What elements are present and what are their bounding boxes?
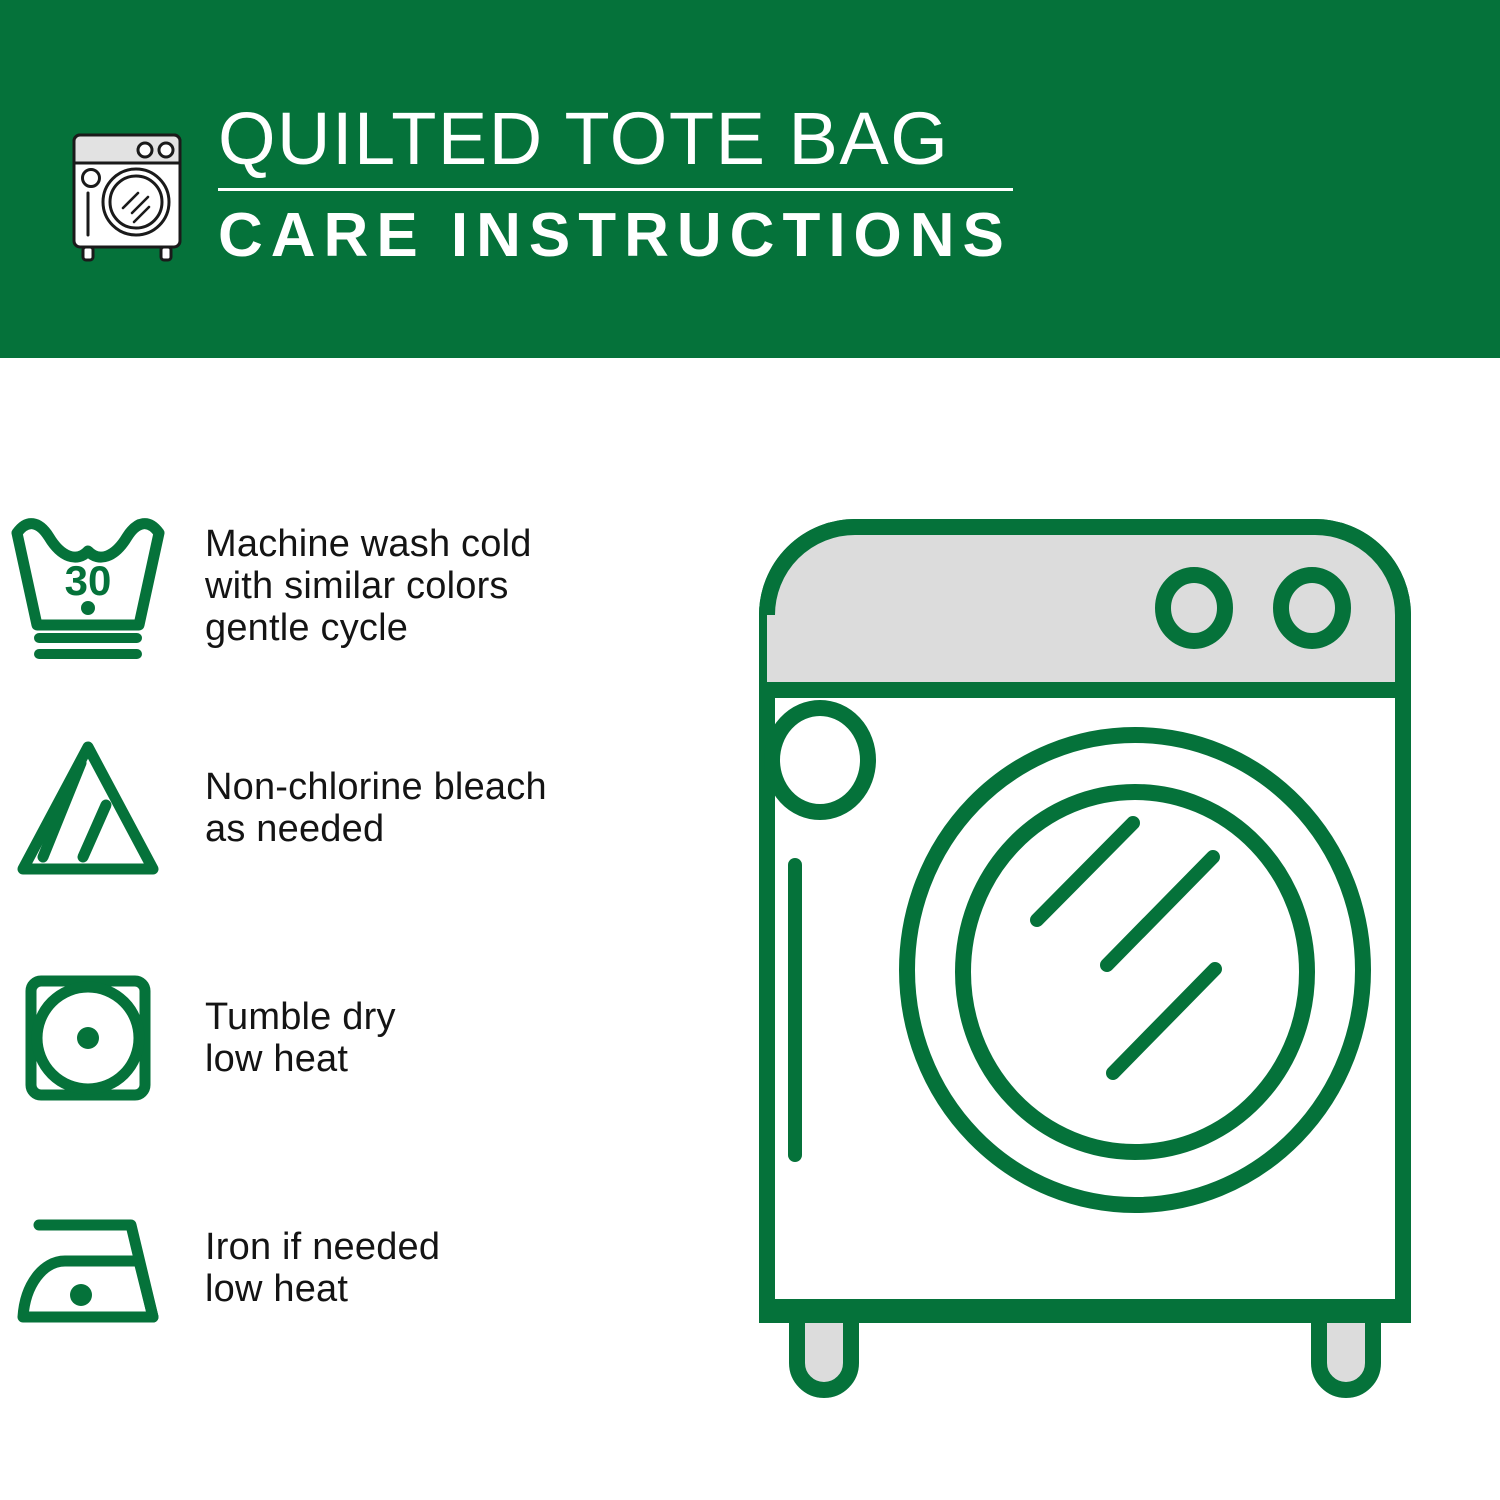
care-row-bleach: Non-chlorine bleach as needed [0, 728, 730, 888]
wash-temperature-value: 30 [64, 557, 111, 604]
drum-inner-ring [963, 792, 1307, 1152]
machine-leg-right [1319, 1315, 1373, 1390]
iron-low-heat-icon [0, 1188, 175, 1348]
care-label-machine-wash: Machine wash cold with similar colors ge… [175, 523, 532, 649]
care-label-line: low heat [205, 1038, 396, 1080]
care-label-line: Non-chlorine bleach [205, 766, 547, 808]
panel-knob-left [1163, 575, 1225, 641]
title-divider [218, 188, 1013, 191]
care-instructions-list: 30 Machine wash cold with similar colors… [0, 358, 730, 1500]
machine-wash-30-icon: 30 [0, 506, 175, 666]
care-label-line: with similar colors [205, 565, 532, 607]
header-banner: QUILTED TOTE BAG CARE INSTRUCTIONS [0, 0, 1500, 358]
care-row-machine-wash: 30 Machine wash cold with similar colors… [0, 506, 730, 666]
care-label-line: as needed [205, 808, 547, 850]
washing-machine-logo-icon [62, 107, 192, 262]
care-row-iron: Iron if needed low heat [0, 1188, 730, 1348]
care-label-line: gentle cycle [205, 607, 532, 649]
page-subtitle: CARE INSTRUCTIONS [218, 201, 1018, 271]
care-label-line: Tumble dry [205, 996, 396, 1038]
header-text-block: QUILTED TOTE BAG CARE INSTRUCTIONS [218, 98, 1018, 271]
tumble-dry-low-icon [0, 958, 175, 1118]
machine-dial [772, 708, 868, 812]
care-row-tumble-dry: Tumble dry low heat [0, 958, 730, 1118]
care-label-line: Machine wash cold [205, 523, 532, 565]
care-label-iron: Iron if needed low heat [175, 1226, 440, 1310]
care-label-line: Iron if needed [205, 1226, 440, 1268]
panel-knob-right [1281, 575, 1343, 641]
machine-leg-left [797, 1315, 851, 1390]
care-label-bleach: Non-chlorine bleach as needed [175, 766, 547, 850]
page-title: QUILTED TOTE BAG [218, 98, 1018, 180]
care-label-line: low heat [205, 1268, 440, 1310]
front-load-washing-machine-illustration [735, 495, 1435, 1415]
care-label-tumble-dry: Tumble dry low heat [175, 996, 396, 1080]
non-chlorine-bleach-triangle-icon [0, 728, 175, 888]
